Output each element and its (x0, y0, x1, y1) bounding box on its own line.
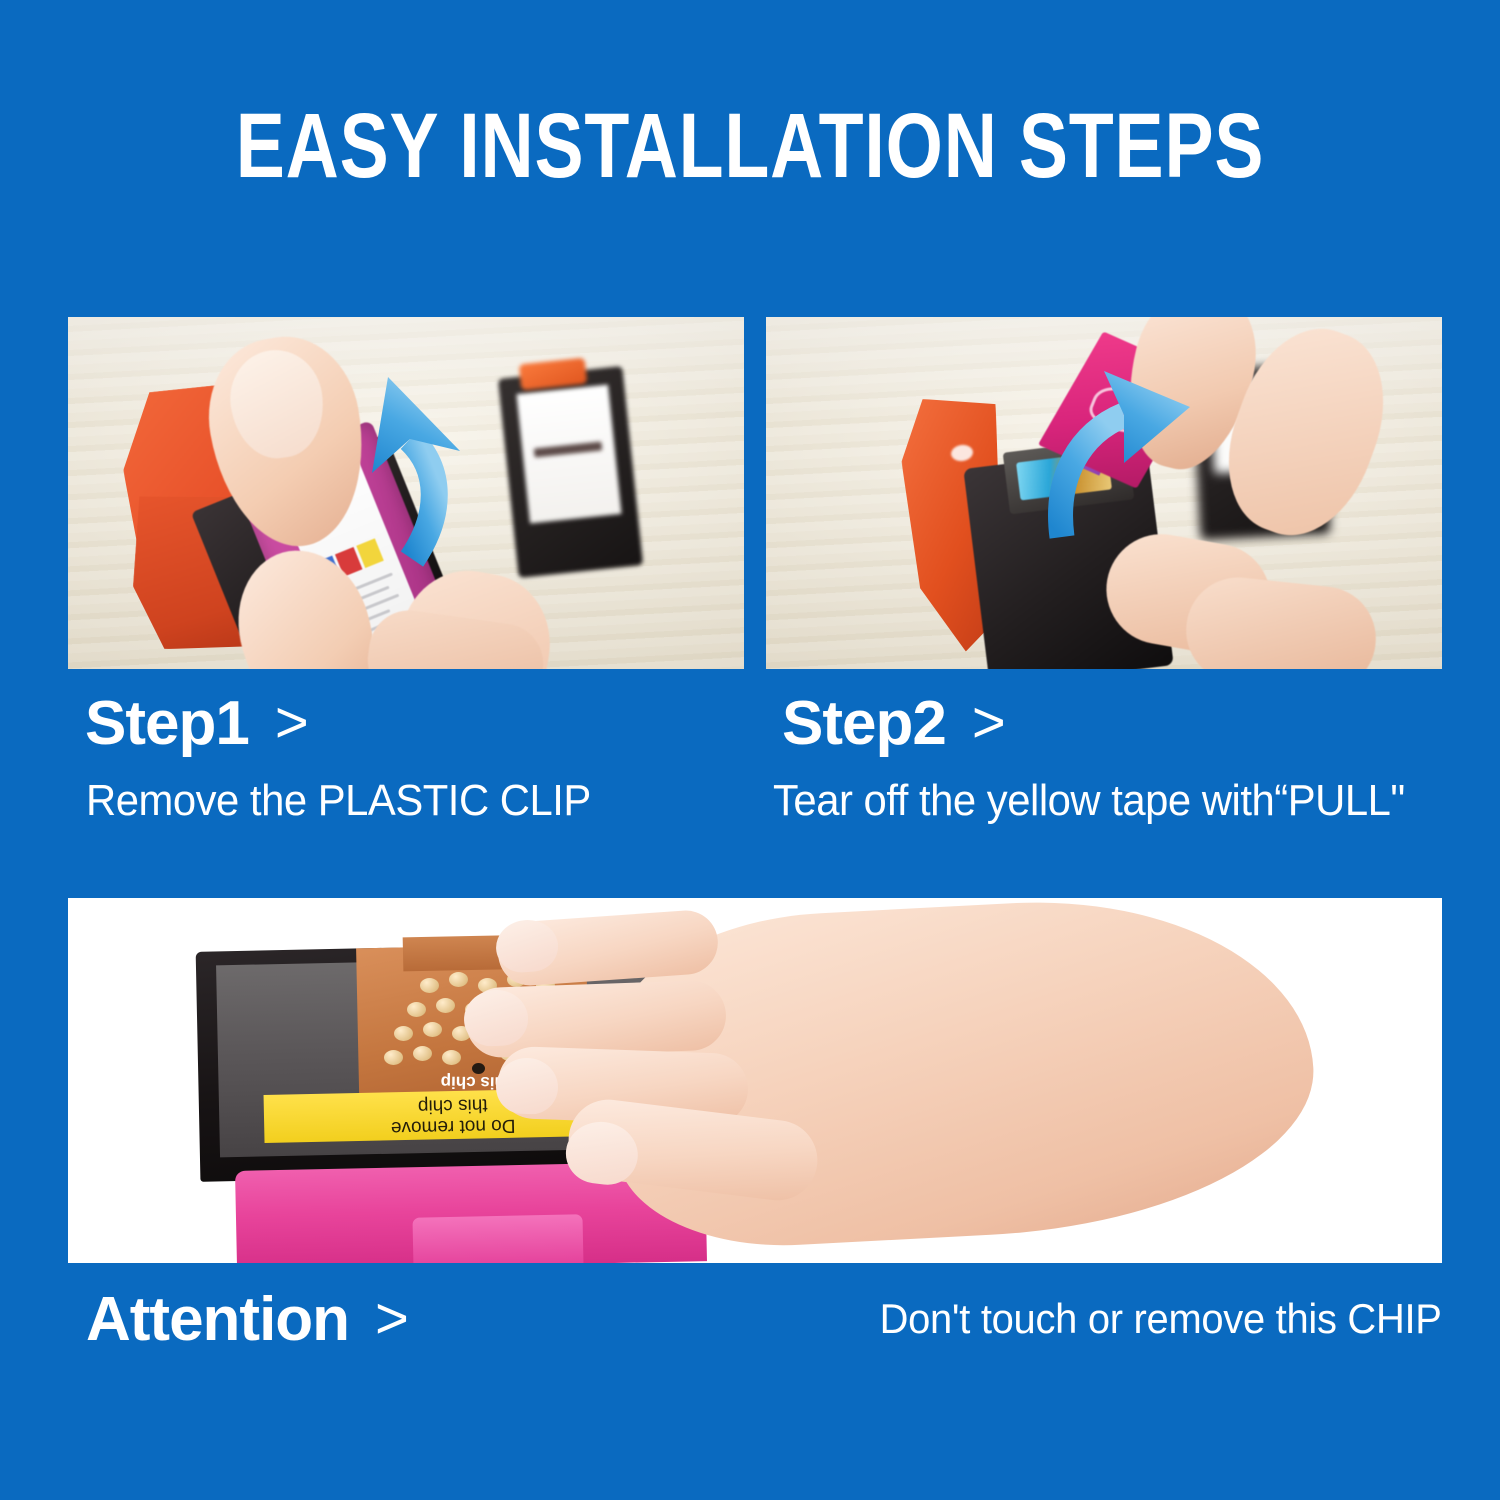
curved-up-arrow-icon (264, 347, 524, 577)
chevron-right-icon: > (375, 1288, 408, 1350)
step-2-photo (766, 317, 1442, 669)
page-title: EASY INSTALLATION STEPS (150, 100, 1350, 192)
attention-title: Attention> (86, 1288, 408, 1351)
attention-description: Don't touch or remove this CHIP (880, 1296, 1442, 1342)
step-2-title: Step2> (782, 692, 1005, 755)
step-1-description: Remove the PLASTIC CLIP (86, 778, 591, 824)
chevron-right-icon: > (275, 692, 308, 754)
step-2-label: Step2 (782, 689, 946, 758)
infographic-canvas: EASY INSTALLATION STEPS (0, 0, 1500, 1500)
chevron-right-icon: > (972, 692, 1005, 754)
attention-label: Attention (86, 1285, 349, 1354)
step-1-title: Step1> (85, 692, 308, 755)
step-2-description: Tear off the yellow tape with“PULL" (773, 778, 1405, 824)
attention-photo: Don't remove this chip Do not remove thi… (68, 898, 1442, 1263)
step-1-label: Step1 (85, 689, 249, 758)
step-1-photo (68, 317, 744, 669)
magenta-cartridge-tab (412, 1214, 583, 1263)
curved-up-arrow-icon (984, 359, 1214, 569)
